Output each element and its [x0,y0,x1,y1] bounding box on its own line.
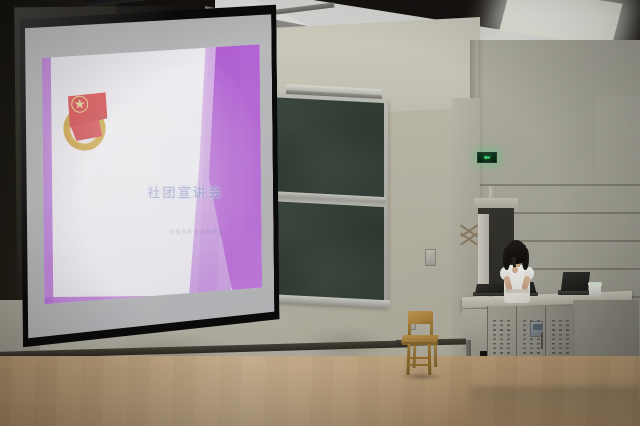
chalk-residue [266,201,384,302]
wall-trellis-decoration [459,228,481,248]
meter-cable [541,333,543,349]
presenter-waistband [505,289,529,293]
chair-rung [407,357,431,359]
lectern-floor-reflection [470,386,640,426]
exit-sign: ⬅ [477,152,497,163]
chair-leg-front-left [406,344,410,375]
chair-backrest [408,311,433,324]
slide-subtitle: 学校学院党委宣传部 [170,230,225,237]
light-switch[interactable] [425,249,436,266]
laptop-lid [561,272,590,291]
presentation-slide: 社团宣讲会 学校学院党委宣传部 [41,43,263,304]
blackboard-panel-upper[interactable] [266,97,384,197]
slide-left-accent-band [41,45,54,304]
cup-container[interactable] [589,284,601,297]
lecture-hall-scene: ⬅ [0,0,640,426]
screen-surface: 社团宣讲会 学校学院党委宣传部 [20,13,274,341]
exit-arrow-icon: ⬅ [484,154,491,162]
cup-lid [588,282,602,285]
chalk-residue [266,97,384,197]
blackboard[interactable] [262,93,388,308]
slide-title: 社团宣讲会 [147,181,223,201]
presenter-figure [496,240,540,302]
chair-leg-front-right [428,344,432,375]
blackboard-panel-lower[interactable] [266,201,384,302]
slide-bottom-accent-band [43,296,183,304]
wall-panel-seam [478,184,640,186]
chair-rung [407,364,431,366]
meter-display [533,324,542,330]
projection-screen[interactable]: 社团宣讲会 学校学院党委宣传部 [14,5,280,348]
communist-youth-league-emblem-icon [61,92,112,155]
wooden-chair[interactable] [398,311,442,377]
presenter-hand [512,267,518,273]
